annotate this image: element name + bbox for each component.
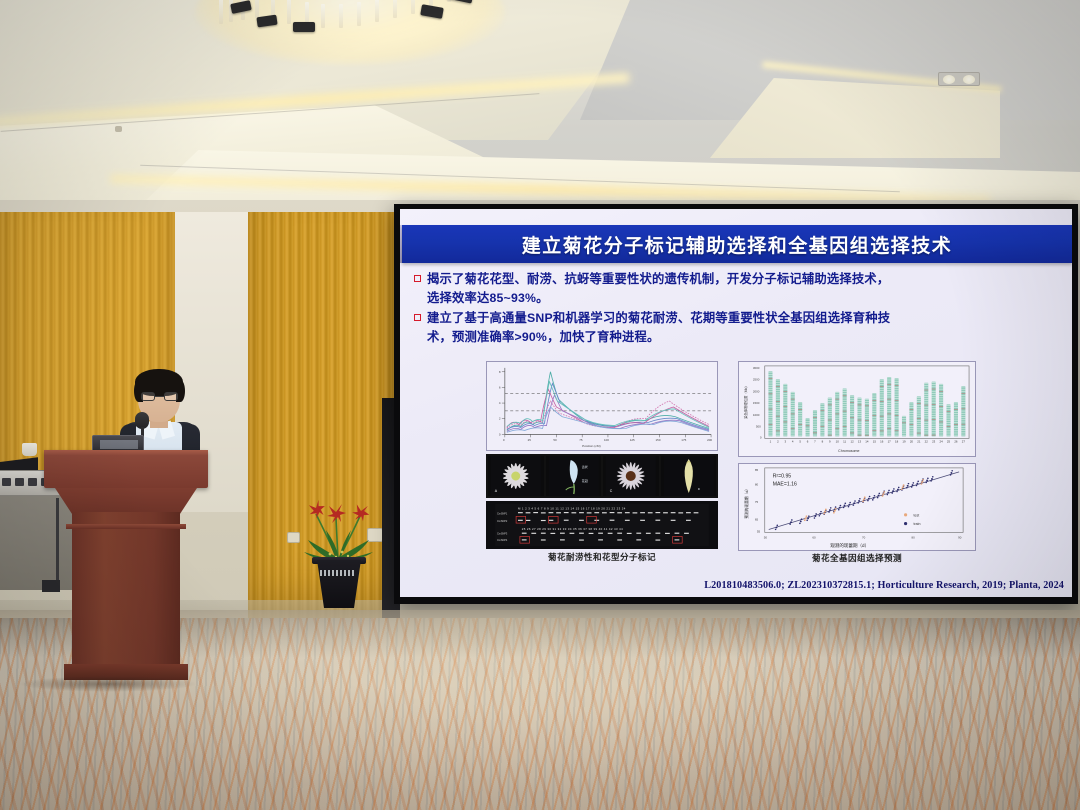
slide-bullet-list: 揭示了菊花花型、耐涝、抗蚜等重要性状的遗传机制，开发分子标记辅助选择技术， 选择…	[414, 271, 1064, 346]
ceiling	[0, 0, 1080, 215]
svg-text:CmSNP2: CmSNP2	[497, 520, 508, 523]
water-cup	[22, 443, 37, 456]
glasses-icon	[141, 392, 178, 401]
podium-taper	[55, 488, 197, 514]
svg-text:CmSNP1: CmSNP1	[497, 513, 508, 516]
photo-pistil-closeup: D	[661, 456, 717, 496]
scatter-xlabel: 观测的现蕾期（d）	[830, 542, 869, 549]
svg-text:26: 26	[954, 439, 958, 443]
plant-pot	[314, 560, 364, 608]
photo-chrysanthemum-white-disc: A	[488, 456, 544, 496]
figure-caption-right: 菊花全基因组选择预测	[738, 552, 976, 564]
svg-text:90: 90	[958, 535, 962, 539]
svg-text:80: 80	[755, 483, 759, 487]
svg-text:0: 0	[499, 432, 501, 436]
svg-text:10: 10	[836, 439, 840, 443]
svg-text:22: 22	[925, 439, 929, 443]
qtl-lod-plot: 864 20 02550 75100125 150175200 Position…	[486, 361, 718, 451]
bullet-continuation: 术，预测准确率>90%，加快了育种进程。	[414, 329, 1064, 346]
svg-text:65: 65	[755, 518, 759, 522]
svg-text:19: 19	[902, 439, 906, 443]
svg-text:25 26 27 28 29 30 31 32 33 34: 25 26 27 28 29 30 31 32 33 34 35 36 37 3…	[522, 527, 623, 531]
podium-body	[72, 512, 180, 664]
svg-text:舌状: 舌状	[581, 464, 587, 469]
svg-text:2500: 2500	[753, 378, 760, 382]
slide-figure-area: 864 20 02550 75100125 150175200 Position…	[486, 361, 986, 563]
svg-text:20: 20	[910, 439, 914, 443]
recessed-downlight-icon	[938, 72, 980, 86]
svg-text:CmSNP3: CmSNP3	[497, 533, 508, 536]
svg-text:预测的现蕾期（d）: 预测的现蕾期（d）	[744, 487, 749, 519]
plant-pot-label	[320, 570, 356, 576]
bullet-item: 揭示了菊花花型、耐涝、抗蚜等重要性状的遗传机制，开发分子标记辅助选择技术，	[414, 271, 1064, 288]
svg-text:24: 24	[940, 439, 944, 443]
chandelier	[195, 0, 505, 80]
svg-text:CmSNP4: CmSNP4	[497, 539, 508, 542]
svg-text:500: 500	[756, 425, 761, 429]
gel-electrophoresis-panel: M 1 2 3 4 5 6 7 8 9 10 11 12 13 14 15 16…	[486, 501, 718, 549]
projection-screen-frame: 建立菊花分子标记辅助选择和全基因组选择技术 揭示了菊花花型、耐涝、抗蚜等重要性状…	[394, 204, 1078, 604]
figure-group-left: 864 20 02550 75100125 150175200 Position…	[486, 361, 718, 563]
legend-train: train	[914, 522, 921, 526]
figure-group-right: 300025002000 15001000500 0 染色体物理位置（Mb） 1…	[738, 361, 976, 563]
svg-text:50: 50	[553, 438, 557, 442]
svg-text:2000: 2000	[753, 389, 760, 393]
figure-caption-left: 菊花耐涝性和花型分子标记	[486, 551, 718, 563]
svg-text:125: 125	[630, 438, 635, 442]
svg-text:75: 75	[755, 500, 759, 504]
podium-top-edge	[44, 450, 208, 455]
legend-test: test	[914, 513, 920, 517]
svg-text:2: 2	[499, 417, 501, 421]
svg-text:175: 175	[681, 438, 686, 442]
svg-text:12: 12	[850, 439, 854, 443]
svg-text:50: 50	[764, 535, 768, 539]
svg-text:200: 200	[707, 438, 712, 442]
slide-title: 建立菊花分子标记辅助选择和全基因组选择技术	[522, 231, 953, 258]
svg-text:1000: 1000	[753, 413, 760, 417]
svg-text:27: 27	[962, 439, 966, 443]
svg-text:3000: 3000	[753, 366, 760, 370]
svg-text:14: 14	[865, 439, 869, 443]
svg-text:75: 75	[579, 438, 583, 442]
r-squared-annotation: R²=0.95	[773, 474, 792, 480]
svg-text:1500: 1500	[753, 401, 760, 405]
mae-annotation: MAE=1.16	[773, 482, 797, 488]
svg-text:13: 13	[858, 439, 862, 443]
bullet-text: 建立了基于高通量SNP和机器学习的菊花耐涝、花期等重要性状全基因组选择育种技	[427, 310, 890, 327]
svg-text:6: 6	[499, 385, 501, 389]
svg-text:100: 100	[604, 438, 609, 442]
svg-text:23: 23	[932, 439, 936, 443]
photo-ray-floret-closeup: 舌状 花冠	[546, 456, 602, 496]
sprinkler-head-icon	[115, 126, 122, 132]
svg-text:4: 4	[499, 401, 501, 405]
genomic-selection-scatter: R²=0.95 MAE=1.16 858075 6555 506070 8090…	[738, 463, 976, 551]
svg-text:15: 15	[873, 439, 877, 443]
svg-text:80: 80	[912, 535, 916, 539]
photo-chrysanthemum-dark-center: C	[603, 456, 659, 496]
podium	[44, 450, 208, 682]
svg-text:Position (cM): Position (cM)	[582, 444, 600, 448]
presentation-scene: 建立菊花分子标记辅助选择和全基因组选择技术 揭示了菊花花型、耐涝、抗蚜等重要性状…	[0, 0, 1080, 810]
svg-text:60: 60	[812, 535, 816, 539]
bullet-text: 揭示了菊花花型、耐涝、抗蚜等重要性状的遗传机制，开发分子标记辅助选择技术，	[427, 271, 889, 288]
stage-spotlight-icon	[293, 22, 315, 32]
chromosome-snp-map: 300025002000 15001000500 0 染色体物理位置（Mb） 1…	[738, 361, 976, 457]
podium-top	[44, 450, 208, 488]
bullet-square-icon	[414, 314, 421, 321]
potted-amaryllis-plant	[296, 478, 382, 610]
svg-text:0: 0	[503, 438, 505, 442]
svg-text:25: 25	[528, 438, 532, 442]
podium-shadow	[18, 676, 198, 692]
svg-text:18: 18	[895, 439, 899, 443]
bullet-item: 建立了基于高通量SNP和机器学习的菊花耐涝、花期等重要性状全基因组选择育种技	[414, 310, 1064, 327]
bullet-continuation: 选择效率达85~93%。	[414, 290, 1064, 307]
flower-photo-strip: A 舌状 花冠	[486, 454, 718, 498]
svg-text:Chromosome: Chromosome	[838, 449, 859, 453]
svg-text:11: 11	[843, 439, 846, 443]
svg-text:染色体物理位置（Mb）: 染色体物理位置（Mb）	[743, 384, 748, 419]
slide-citation: L201810483506.0; ZL202310372815.1; Horti…	[704, 580, 1064, 591]
svg-text:55: 55	[757, 529, 761, 533]
slide-title-bar: 建立菊花分子标记辅助选择和全基因组选择技术	[402, 225, 1072, 263]
svg-text:25: 25	[947, 439, 951, 443]
svg-text:21: 21	[917, 439, 921, 443]
podium-rail	[66, 524, 186, 529]
svg-text:85: 85	[755, 468, 759, 472]
svg-text:17: 17	[888, 439, 892, 443]
svg-text:70: 70	[862, 535, 866, 539]
projection-screen: 建立菊花分子标记辅助选择和全基因组选择技术 揭示了菊花花型、耐涝、抗蚜等重要性状…	[400, 209, 1072, 597]
svg-text:8: 8	[499, 370, 501, 374]
bullet-square-icon	[414, 275, 421, 282]
svg-text:M 1 2 3 4 5 6 7 8 9 10 11 12 1: M 1 2 3 4 5 6 7 8 9 10 11 12 13 14 15 16…	[518, 506, 626, 510]
svg-text:花冠: 花冠	[581, 478, 587, 483]
svg-text:150: 150	[656, 438, 661, 442]
svg-text:16: 16	[880, 439, 884, 443]
